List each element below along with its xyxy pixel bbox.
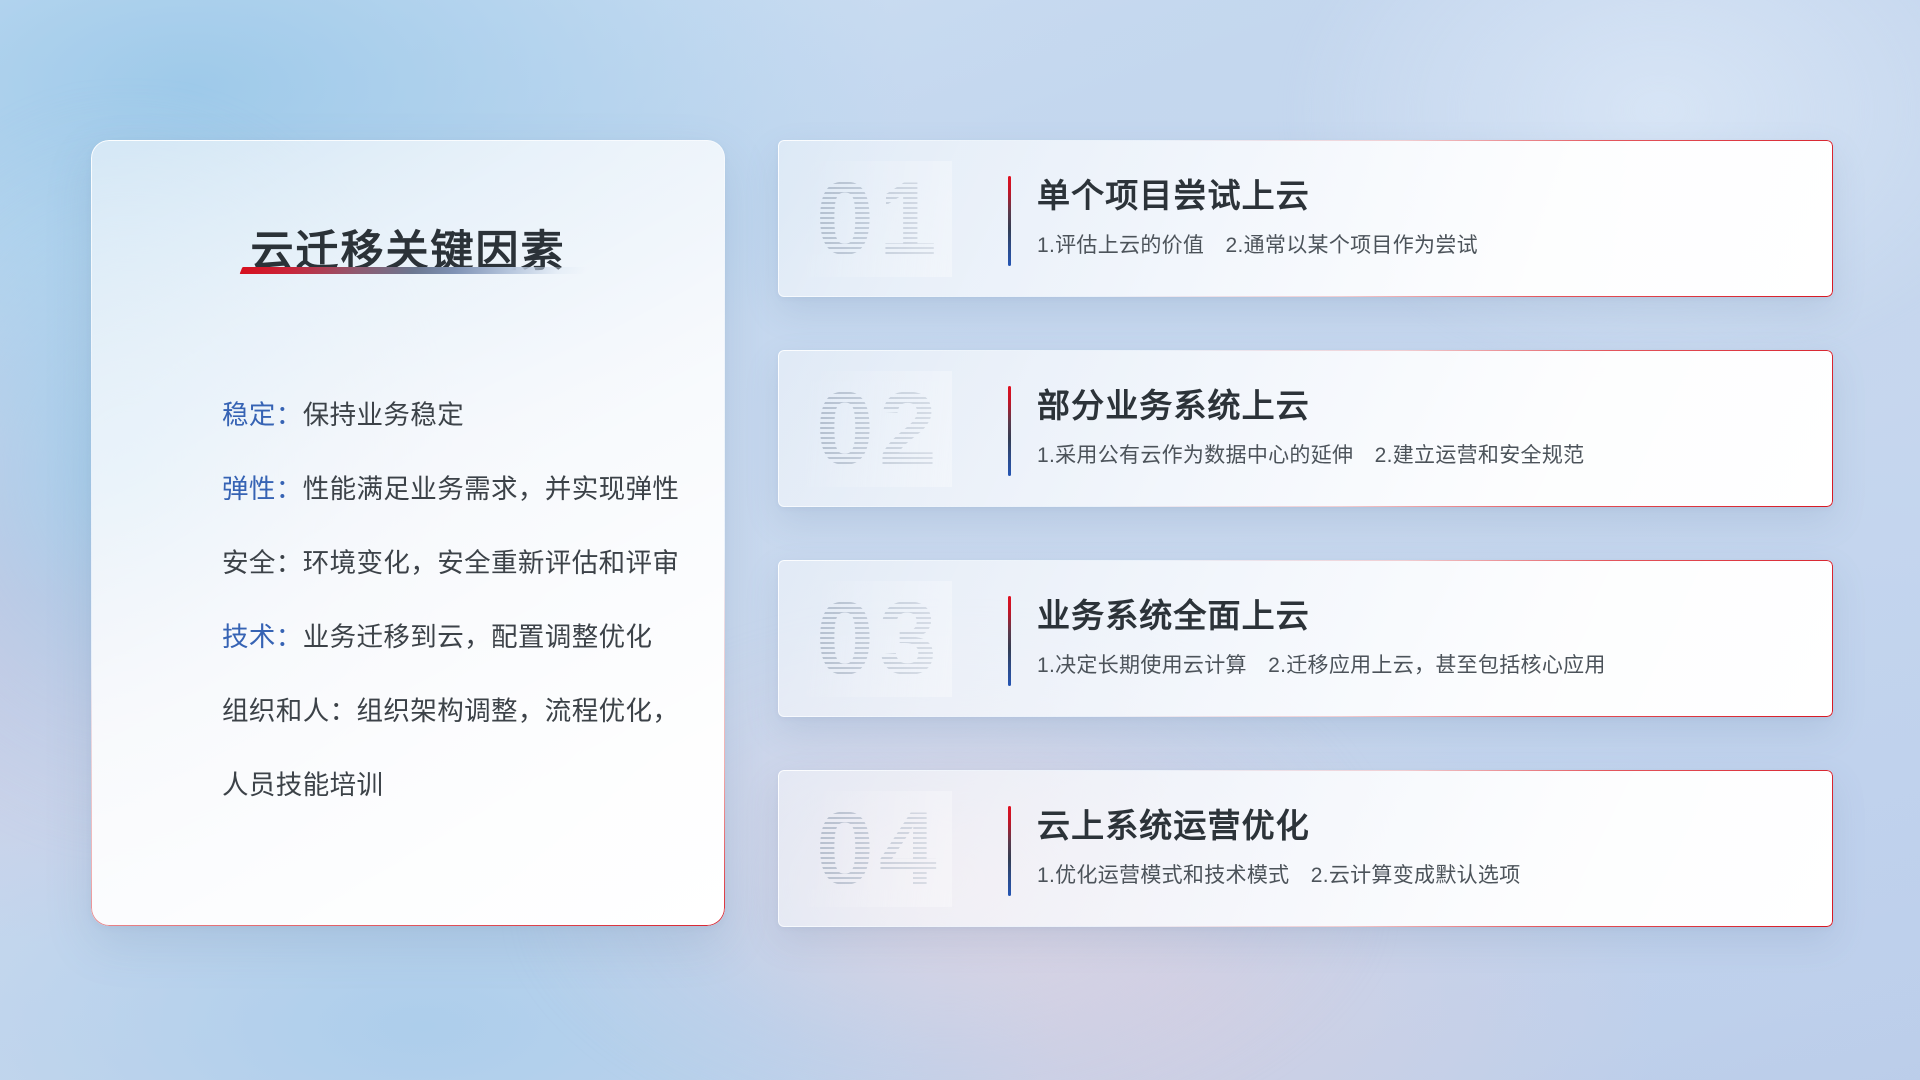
- card-title: 业务系统全面上云: [1037, 594, 1807, 638]
- card-accent-bar: [1008, 596, 1011, 686]
- list-item: 安全：环境变化，安全重新评估和评审: [222, 526, 689, 600]
- list-item-text: 性能满足业务需求，并实现弹性: [303, 474, 680, 504]
- list-item-text: 保持业务稳定: [303, 400, 464, 430]
- card-description: 1.评估上云的价值 2.通常以某个项目作为尝试: [1037, 231, 1807, 261]
- card-number-watermark: 02: [816, 377, 942, 481]
- card-description: 1.决定长期使用云计算 2.迁移应用上云，甚至包括核心应用: [1037, 651, 1807, 681]
- list-item: 稳定：保持业务稳定: [222, 378, 689, 452]
- card-body: 单个项目尝试上云 1.评估上云的价值 2.通常以某个项目作为尝试: [1037, 174, 1807, 261]
- list-item: 弹性：性能满足业务需求，并实现弹性: [222, 452, 689, 526]
- list-item: 技术：业务迁移到云，配置调整优化: [222, 600, 689, 674]
- card-title: 部分业务系统上云: [1037, 384, 1807, 428]
- list-item-text: 环境变化，安全重新评估和评审: [303, 548, 680, 578]
- list-item: 组织和人：组织架构调整，流程优化，: [222, 674, 689, 748]
- card-number-watermark: 01: [816, 167, 942, 271]
- key-factors-panel: 云迁移关键因素 稳定：保持业务稳定 弹性：性能满足业务需求，并实现弹性 安全：环…: [91, 140, 725, 926]
- stage-card-02[interactable]: 02 部分业务系统上云 1.采用公有云作为数据中心的延伸 2.建立运营和安全规范: [778, 350, 1833, 507]
- card-description: 1.采用公有云作为数据中心的延伸 2.建立运营和安全规范: [1037, 441, 1807, 471]
- card-body: 云上系统运营优化 1.优化运营模式和技术模式 2.云计算变成默认选项: [1037, 804, 1807, 891]
- card-body: 部分业务系统上云 1.采用公有云作为数据中心的延伸 2.建立运营和安全规范: [1037, 384, 1807, 471]
- list-item-label: 安全：: [222, 548, 303, 578]
- card-title: 单个项目尝试上云: [1037, 174, 1807, 218]
- list-item-label: 稳定：: [222, 400, 303, 430]
- list-item-label: 组织和人：: [222, 696, 357, 726]
- list-item-text: 人员技能培训: [222, 770, 383, 800]
- list-item-label: 弹性：: [222, 474, 303, 504]
- card-number-watermark: 03: [816, 587, 942, 691]
- key-factors-list: 稳定：保持业务稳定 弹性：性能满足业务需求，并实现弹性 安全：环境变化，安全重新…: [222, 378, 689, 822]
- card-body: 业务系统全面上云 1.决定长期使用云计算 2.迁移应用上云，甚至包括核心应用: [1037, 594, 1807, 681]
- card-number-watermark: 04: [816, 797, 942, 901]
- stage-card-04[interactable]: 04 云上系统运营优化 1.优化运营模式和技术模式 2.云计算变成默认选项: [778, 770, 1833, 927]
- card-accent-bar: [1008, 176, 1011, 266]
- card-accent-bar: [1008, 386, 1011, 476]
- list-item: 人员技能培训: [222, 748, 689, 822]
- list-item-text: 业务迁移到云，配置调整优化: [303, 622, 653, 652]
- list-item-text: 组织架构调整，流程优化，: [357, 696, 680, 726]
- card-title: 云上系统运营优化: [1037, 804, 1807, 848]
- list-item-label: 技术：: [222, 622, 303, 652]
- slide-stage: 云迁移关键因素 稳定：保持业务稳定 弹性：性能满足业务需求，并实现弹性 安全：环…: [0, 0, 1920, 1080]
- stage-card-03[interactable]: 03 业务系统全面上云 1.决定长期使用云计算 2.迁移应用上云，甚至包括核心应…: [778, 560, 1833, 717]
- title-underline-rule: [240, 267, 588, 274]
- card-description: 1.优化运营模式和技术模式 2.云计算变成默认选项: [1037, 861, 1807, 891]
- card-accent-bar: [1008, 806, 1011, 896]
- stage-card-01[interactable]: 01 单个项目尝试上云 1.评估上云的价值 2.通常以某个项目作为尝试: [778, 140, 1833, 297]
